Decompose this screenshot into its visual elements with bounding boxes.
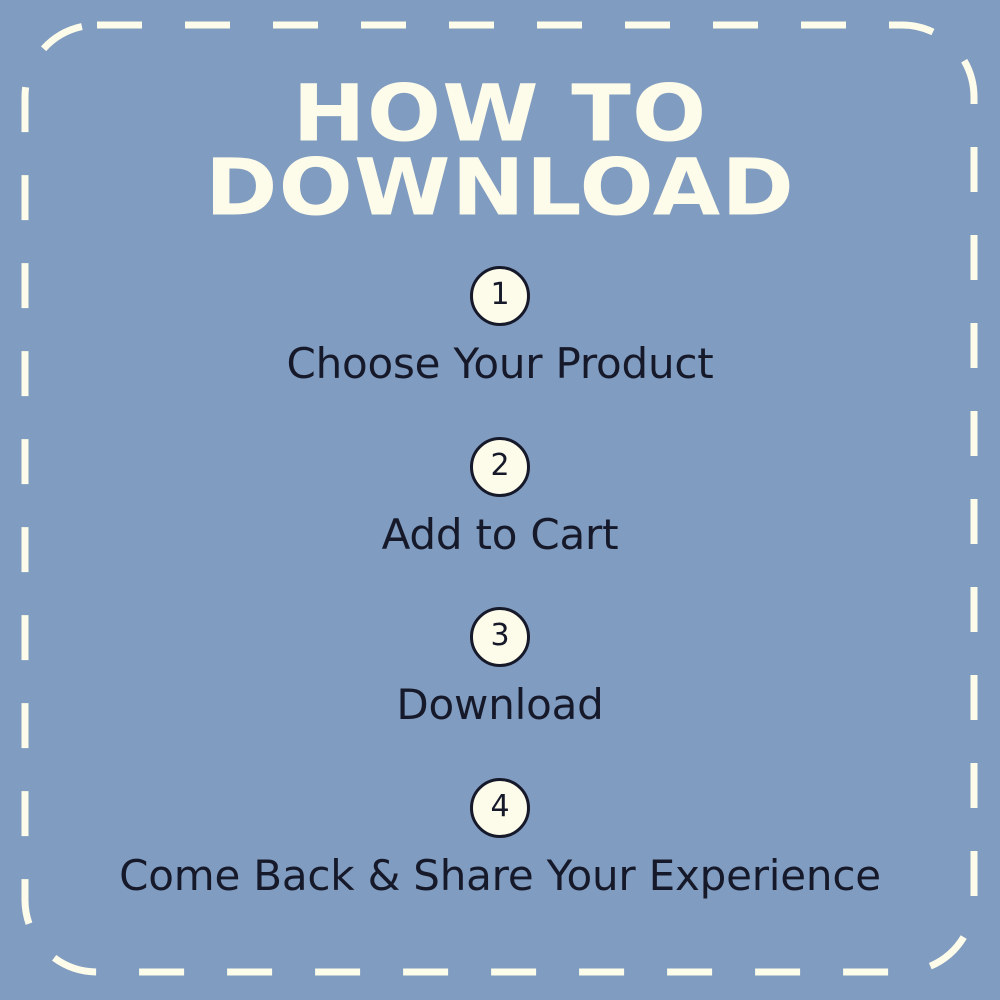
step-item: 4 Come Back & Share Your Experience [0,778,1000,903]
title-line-download: DOWNLOAD [205,152,795,224]
how-to-download-poster: HOW TO DOWNLOAD 1 Choose Your Product 2 … [0,0,1000,1000]
step-number-badge: 3 [470,607,530,667]
step-label: Choose Your Product [286,338,713,391]
step-item: 2 Add to Cart [0,437,1000,562]
poster-content: HOW TO DOWNLOAD 1 Choose Your Product 2 … [0,0,1000,1000]
step-item: 3 Download [0,607,1000,732]
step-label: Add to Cart [382,509,619,562]
page-title: HOW TO DOWNLOAD [250,78,750,220]
step-number-badge: 4 [470,778,530,838]
steps-list: 1 Choose Your Product 2 Add to Cart 3 Do… [0,266,1000,902]
step-item: 1 Choose Your Product [0,266,1000,391]
step-number-badge: 1 [470,266,530,326]
step-label: Download [396,679,603,732]
title-line-how-to: HOW TO [205,78,795,150]
step-label: Come Back & Share Your Experience [119,850,881,903]
step-number-badge: 2 [470,437,530,497]
